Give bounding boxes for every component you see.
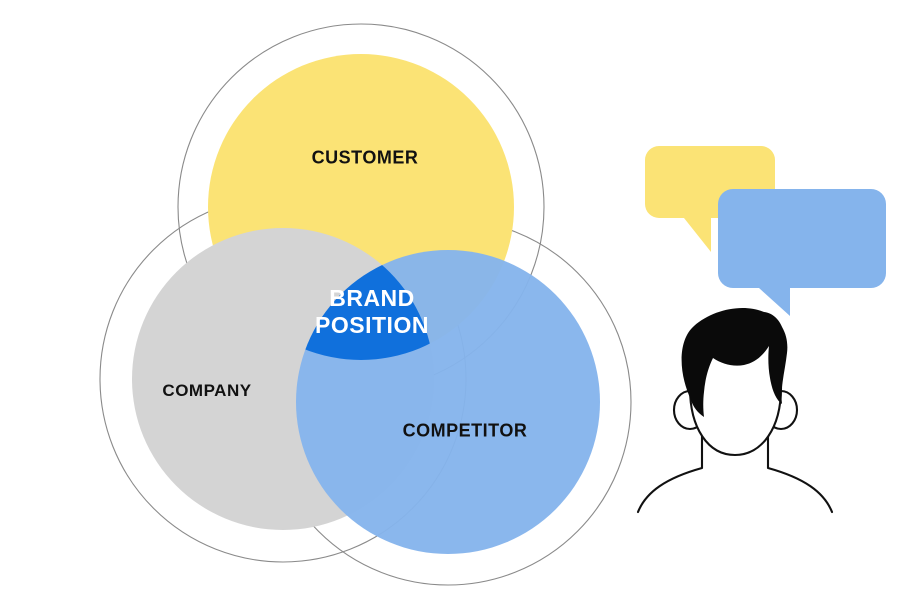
person-shoulders: [638, 468, 702, 512]
speech-bubble-blue-icon[interactable]: [718, 189, 886, 316]
conversation-illustration: [0, 0, 900, 593]
illustration-canvas: CUSTOMER COMPANY COMPETITOR BRAND POSITI…: [0, 0, 900, 593]
person-shoulders-right: [768, 468, 832, 512]
